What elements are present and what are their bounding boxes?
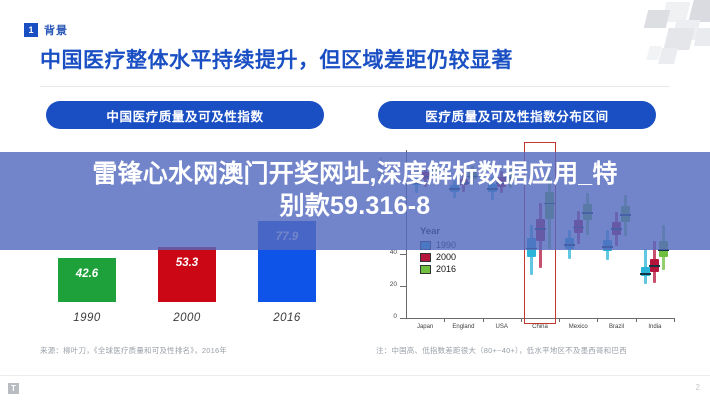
- section-tag: 1 背景: [24, 22, 68, 38]
- boxplot-median-line: [602, 246, 613, 248]
- slide-canvas: 1 背景 中国医疗整体水平持续提升，但区域差距仍较显著 中国医疗质量及可及性指数…: [0, 0, 710, 400]
- china-highlight-box: [524, 142, 556, 324]
- legend-label: 1990: [436, 240, 456, 250]
- boxplot-box: [641, 267, 650, 277]
- legend-title: Year: [420, 226, 456, 237]
- chart-legend: Year 199020002016: [420, 226, 456, 276]
- bar: [158, 247, 216, 302]
- x-axis-tick: [597, 318, 598, 322]
- y-axis-tick: 40: [400, 254, 407, 255]
- boxplot-median-line: [458, 182, 469, 184]
- title-divider: [40, 86, 670, 87]
- boxplot-median-line: [449, 188, 460, 190]
- right-panel-pill: 医疗质量及可及性指数分布区间: [378, 101, 656, 129]
- x-axis-tick-label: India: [633, 324, 677, 330]
- x-axis-tick: [636, 318, 637, 322]
- boxplot-median-line: [611, 228, 622, 230]
- bar-value-label: 53.3: [158, 257, 216, 269]
- boxplot-median-line: [620, 214, 631, 216]
- section-number-badge: 1: [24, 23, 38, 37]
- bar-value-label: 42.6: [58, 268, 116, 280]
- decorative-square-8: [658, 48, 678, 64]
- right-chart-footnote: 注：中国高、低指数差距很大（80+~40+），低水平地区不及墨西哥和巴西: [376, 345, 627, 356]
- x-axis-tick: [444, 318, 445, 322]
- decorative-square-6: [694, 28, 710, 46]
- legend-label: 2016: [436, 264, 456, 274]
- y-axis-title: HAQ Index: [378, 157, 384, 184]
- boxplot-median-line: [429, 171, 440, 173]
- boxplot-median-line: [467, 176, 478, 178]
- page-number: 2: [696, 383, 700, 392]
- boxplot-median-line: [411, 182, 422, 184]
- legend-item: 2000: [420, 252, 456, 262]
- boxplot-median-line: [420, 176, 431, 178]
- boxplot-median-line: [496, 182, 507, 184]
- footer-logo-icon: T: [8, 383, 19, 394]
- left-chart-source: 来源：柳叶刀，《全球医疗质量和可及性排名》，2016年: [40, 345, 227, 356]
- y-axis-tick: 0: [400, 318, 407, 319]
- legend-swatch: [420, 265, 431, 274]
- section-label: 背景: [44, 22, 68, 38]
- bar: [58, 258, 116, 302]
- y-axis-line: [406, 150, 407, 318]
- boxplot-median-line: [649, 265, 660, 267]
- decorative-square-5: [663, 28, 694, 50]
- left-panel-pill: 中国医疗质量及可及性指数: [46, 101, 324, 129]
- bar-chart: 42.6199053.3200077.92016: [40, 196, 340, 328]
- x-axis-tick: [483, 318, 484, 322]
- boxplot-median-line: [658, 249, 669, 251]
- boxplot-chart: HAQ Index Year 199020002016 02040JapanEn…: [376, 150, 676, 330]
- y-axis-tick-label: 0: [393, 313, 397, 320]
- legend-item: 2016: [420, 264, 456, 274]
- decorative-square-4: [672, 20, 701, 40]
- y-axis-tick-label: 20: [390, 281, 397, 288]
- x-axis-tick: [674, 318, 675, 322]
- y-axis-tick-label: 40: [390, 249, 397, 256]
- legend-swatch: [420, 241, 431, 250]
- boxplot-median-line: [487, 188, 498, 190]
- legend-swatch: [420, 253, 431, 262]
- x-axis-tick: [559, 318, 560, 322]
- boxplot-median-line: [640, 273, 651, 275]
- decorative-square-7: [646, 46, 661, 60]
- boxplot-median-line: [505, 177, 516, 179]
- legend-item: 1990: [420, 240, 456, 250]
- bar-category-label: 1990: [58, 312, 116, 324]
- boxplot-median-line: [564, 244, 575, 246]
- decorative-square-3: [644, 10, 670, 28]
- bar-category-label: 2000: [158, 312, 216, 324]
- boxplot-median-line: [573, 227, 584, 229]
- footer-divider: [0, 375, 710, 376]
- decorative-shapes: [630, 0, 710, 72]
- legend-label: 2000: [436, 252, 456, 262]
- bar-category-label: 2016: [258, 312, 316, 324]
- y-axis-tick: 20: [400, 286, 407, 287]
- x-axis-tick: [521, 318, 522, 322]
- decorative-square-1: [662, 2, 691, 22]
- bar-value-label: 77.9: [258, 231, 316, 243]
- boxplot-median-line: [582, 212, 593, 214]
- page-title: 中国医疗整体水平持续提升，但区域差距仍较显著: [40, 44, 513, 74]
- decorative-square-2: [688, 0, 710, 22]
